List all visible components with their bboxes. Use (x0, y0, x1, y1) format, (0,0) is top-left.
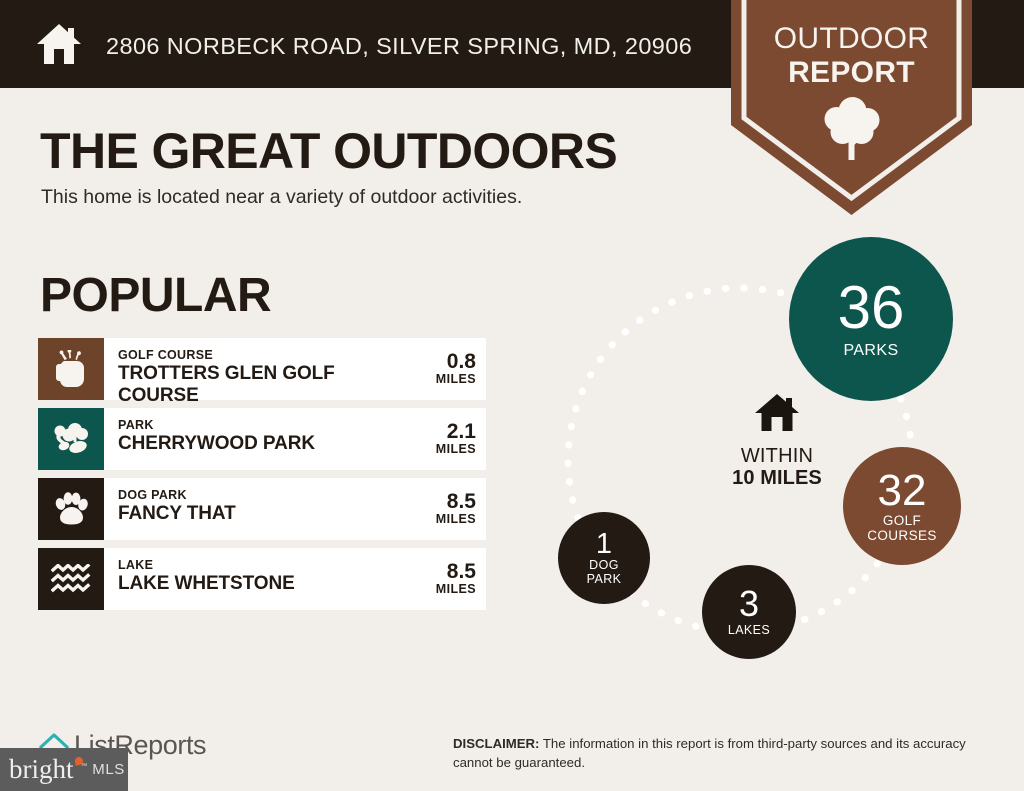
badge-title: OUTDOOR REPORT (731, 22, 972, 89)
poi-distance: 8.5 MILES (390, 491, 476, 527)
chart-center-line-1: WITHIN (682, 445, 872, 467)
poi-icon-tile (38, 338, 104, 400)
list-item[interactable]: DOG PARK FANCY THAT 8.5 MILES (38, 478, 486, 540)
bubble-golf-label-line2: COURSES (867, 528, 937, 543)
house-icon (36, 22, 82, 66)
poi-category: DOG PARK (118, 489, 383, 502)
poi-distance-unit: MILES (390, 583, 476, 597)
poi-icon-tile (38, 478, 104, 540)
page-title: THE GREAT OUTDOORS (40, 122, 617, 180)
bubble-parks-label: PARKS (843, 342, 898, 360)
bubble-dog-park-label-line1: DOG (589, 558, 619, 572)
poi-name: LAKE WHETSTONE (118, 573, 383, 595)
poi-distance-unit: MILES (390, 513, 476, 527)
popular-list: GOLF COURSE TROTTERS GLEN GOLF COURSE 0.… (38, 338, 486, 618)
outdoor-report-page: 2806 NORBECK ROAD, SILVER SPRING, MD, 20… (0, 0, 1024, 791)
badge-line-1: OUTDOOR (774, 22, 929, 55)
badge-line-2: REPORT (731, 56, 972, 90)
bubble-dog-park-value: 1 (596, 530, 612, 558)
poi-distance-unit: MILES (390, 443, 476, 457)
mls-text: MLS (92, 761, 125, 778)
golf-bag-icon (54, 350, 88, 388)
paw-print-icon (54, 492, 88, 526)
list-item[interactable]: GOLF COURSE TROTTERS GLEN GOLF COURSE 0.… (38, 338, 486, 400)
disclaimer-label: DISCLAIMER: (453, 736, 539, 751)
poi-text: PARK CHERRYWOOD PARK (118, 419, 383, 455)
page-subtitle: This home is located near a variety of o… (41, 186, 522, 209)
poi-distance-value: 8.5 (390, 561, 476, 583)
poi-distance-value: 2.1 (390, 421, 476, 443)
bubble-parks[interactable]: 36 PARKS (789, 237, 953, 401)
poi-category: LAKE (118, 559, 383, 572)
poi-category: PARK (118, 419, 383, 432)
bubble-dog-park-label-line2: PARK (587, 572, 622, 586)
poi-distance-value: 0.8 (390, 351, 476, 373)
outdoor-report-badge: OUTDOOR REPORT (731, 0, 972, 215)
bubble-lakes-value: 3 (739, 586, 759, 621)
poi-name: CHERRYWOOD PARK (118, 433, 383, 455)
popular-section-heading: POPULAR (40, 268, 271, 323)
property-address: 2806 NORBECK ROAD, SILVER SPRING, MD, 20… (106, 33, 692, 60)
bubble-golf-label: GOLF COURSES (867, 514, 937, 544)
poi-distance: 0.8 MILES (390, 351, 476, 387)
bubble-parks-value: 36 (838, 279, 905, 338)
poi-distance-unit: MILES (390, 373, 476, 387)
trees-icon (53, 423, 89, 455)
bubble-golf-value: 32 (878, 469, 927, 512)
chart-center-line-2: 10 MILES (682, 467, 872, 490)
poi-distance-value: 8.5 (390, 491, 476, 513)
waves-icon (51, 564, 91, 594)
poi-distance: 8.5 MILES (390, 561, 476, 597)
poi-distance: 2.1 MILES (390, 421, 476, 457)
poi-name: FANCY THAT (118, 503, 383, 525)
bright-wordmark: bright ™ (9, 756, 87, 783)
poi-text: GOLF COURSE TROTTERS GLEN GOLF COURSE (118, 349, 383, 407)
poi-name: TROTTERS GLEN GOLF COURSE (118, 363, 383, 407)
bubble-dog-park-label: DOG PARK (587, 559, 622, 587)
disclaimer: DISCLAIMER: The information in this repo… (453, 735, 993, 772)
bubble-dog-park[interactable]: 1 DOG PARK (558, 512, 650, 604)
list-item[interactable]: PARK CHERRYWOOD PARK 2.1 MILES (38, 408, 486, 470)
bubble-lakes-label: LAKES (728, 624, 770, 638)
chart-center-marker: WITHIN 10 MILES (682, 393, 872, 490)
house-icon (682, 393, 872, 438)
bubble-lakes[interactable]: 3 LAKES (702, 565, 796, 659)
poi-text: LAKE LAKE WHETSTONE (118, 559, 383, 595)
proximity-bubble-chart: 36 PARKS 32 GOLF COURSES 3 LAKES 1 DOG P… (530, 225, 1024, 680)
poi-text: DOG PARK FANCY THAT (118, 489, 383, 525)
bubble-golf-label-line1: GOLF (883, 513, 921, 528)
list-item[interactable]: LAKE LAKE WHETSTONE 8.5 MILES (38, 548, 486, 610)
poi-category: GOLF COURSE (118, 349, 383, 362)
bright-mls-watermark: bright ™ MLS (0, 748, 128, 791)
poi-icon-tile (38, 548, 104, 610)
bright-text: bright (9, 754, 74, 784)
poi-icon-tile (38, 408, 104, 470)
